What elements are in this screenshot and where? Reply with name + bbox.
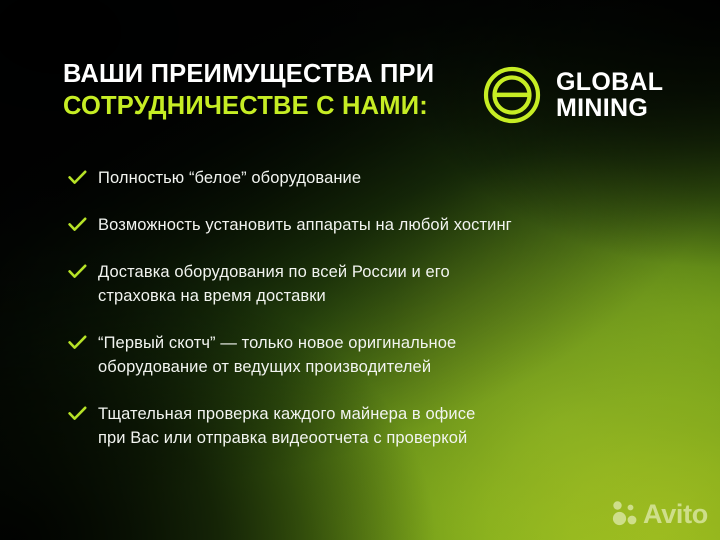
list-item: Доставка оборудования по всей России и е… (68, 260, 668, 308)
check-icon (68, 217, 87, 233)
avito-watermark: Avito (609, 499, 708, 529)
list-item-line: Доставка оборудования по всей России и е… (98, 260, 668, 284)
list-item-text: Полностью “белое” оборудование (98, 166, 668, 190)
list-item-text: Доставка оборудования по всей России и е… (98, 260, 668, 308)
list-item-text: Возможность установить аппараты на любой… (98, 213, 668, 237)
list-item-line: Полностью “белое” оборудование (98, 166, 668, 190)
list-item: “Первый скотч” — только новое оригинальн… (68, 331, 668, 379)
list-item-text: Тщательная проверка каждого майнера в оф… (98, 402, 668, 450)
list-item-line: Тщательная проверка каждого майнера в оф… (98, 402, 668, 426)
avito-dots-icon (609, 499, 639, 529)
promo-slide: ВАШИ ПРЕИМУЩЕСТВА ПРИ СОТРУДНИЧЕСТВЕ С Н… (0, 0, 720, 540)
brand-word-mining: MINING (556, 95, 663, 121)
list-item-line: при Вас или отправка видеоотчета с прове… (98, 426, 668, 450)
avito-wordmark: Avito (643, 501, 708, 528)
brand-logo: GLOBAL MINING (483, 66, 663, 124)
global-mining-ring-icon (483, 66, 541, 124)
check-icon (68, 406, 87, 422)
list-item-line: “Первый скотч” — только новое оригинальн… (98, 331, 668, 355)
list-item: Возможность установить аппараты на любой… (68, 213, 668, 237)
list-item: Полностью “белое” оборудование (68, 166, 668, 190)
list-item: Тщательная проверка каждого майнера в оф… (68, 402, 668, 450)
brand-wordmark: GLOBAL MINING (556, 69, 663, 121)
list-item-line: Возможность установить аппараты на любой… (98, 213, 668, 237)
slide-content: ВАШИ ПРЕИМУЩЕСТВА ПРИ СОТРУДНИЧЕСТВЕ С Н… (0, 0, 720, 540)
brand-word-global: GLOBAL (556, 69, 663, 95)
page-title: ВАШИ ПРЕИМУЩЕСТВА ПРИ СОТРУДНИЧЕСТВЕ С Н… (63, 58, 463, 122)
list-item-line: оборудование от ведущих производителей (98, 355, 668, 379)
list-item-text: “Первый скотч” — только новое оригинальн… (98, 331, 668, 379)
check-icon (68, 335, 87, 351)
headline-line-1: ВАШИ ПРЕИМУЩЕСТВА ПРИ (63, 58, 463, 90)
check-icon (68, 170, 87, 186)
benefits-list: Полностью “белое” оборудование Возможнос… (68, 166, 668, 450)
headline-line-2: СОТРУДНИЧЕСТВЕ С НАМИ: (63, 90, 463, 122)
list-item-line: страховка на время доставки (98, 284, 668, 308)
check-icon (68, 264, 87, 280)
